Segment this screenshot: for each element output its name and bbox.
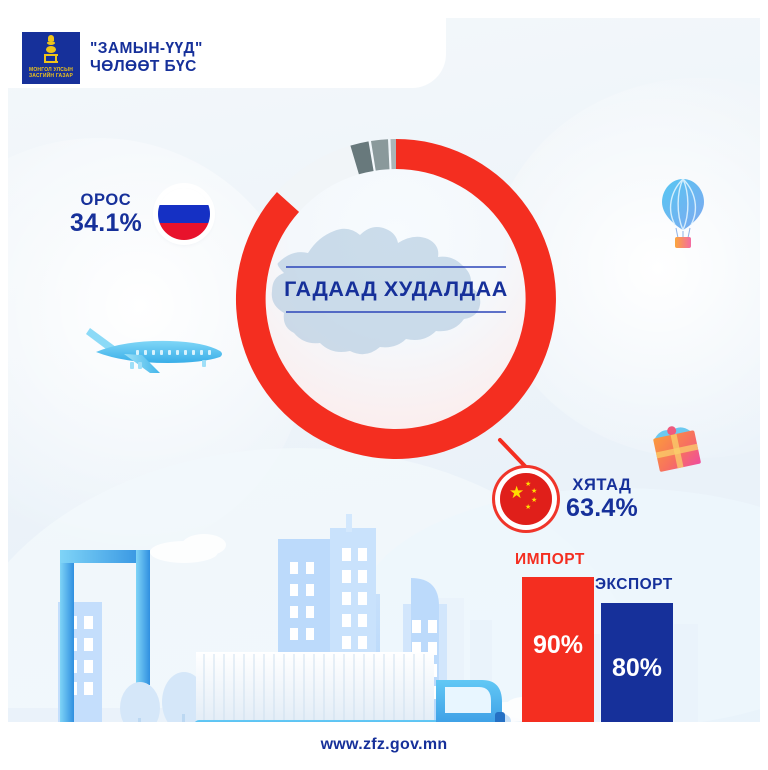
emblem-text: МОНГОЛ УЛСЫН ЗАСГИЙН ГАЗАР	[22, 67, 80, 79]
callout-russia[interactable]: ОРОС 34.1%	[70, 188, 210, 240]
callout-russia-percent: 34.1%	[70, 211, 142, 237]
infographic-poster: ГАДААД ХУДАЛДАА ОРОС 34.1% ★ ★ ★ ★ ★ ХЯТ…	[8, 18, 760, 762]
donut-center-label-group: ГАДААД ХУДАЛДАА	[220, 266, 572, 313]
website-url[interactable]: www.zfz.gov.mn	[8, 736, 760, 754]
callout-russia-name: ОРОС	[70, 192, 142, 209]
gift-box-icon	[649, 414, 705, 472]
import-bar-value: 90%	[522, 631, 594, 660]
mongolia-government-emblem-icon: МОНГОЛ УЛСЫН ЗАСГИЙН ГАЗАР	[22, 32, 80, 84]
donut-center-label: ГАДААД ХУДАЛДАА	[220, 277, 572, 302]
center-rule-bottom	[286, 311, 506, 313]
donut-segment-russia	[277, 146, 359, 212]
brand-title: "ЗАМЫН-ҮҮД" ЧӨЛӨӨТ БҮС	[90, 40, 203, 76]
callout-china-percent: 63.4%	[566, 496, 638, 522]
hot-air-balloon-icon	[660, 178, 706, 252]
center-rule-top	[286, 266, 506, 268]
soyombo-symbol-icon	[43, 35, 59, 65]
china-flag-icon: ★ ★ ★ ★ ★	[500, 473, 552, 525]
export-bar-value: 80%	[601, 654, 673, 683]
callout-russia-text: ОРОС 34.1%	[70, 192, 142, 236]
brand-lockup: МОНГОЛ УЛСЫН ЗАСГИЙН ГАЗАР "ЗАМЫН-ҮҮД" Ч…	[22, 32, 203, 84]
donut-segment-other-3	[391, 139, 397, 169]
export-bar-label: ЭКСПОРТ	[595, 576, 673, 594]
donut-segment-other-2	[371, 139, 390, 170]
callout-china-name: ХЯТАД	[566, 477, 638, 494]
airplane-icon	[80, 318, 230, 380]
callout-china-text: ХЯТАД 63.4%	[566, 477, 638, 521]
callout-china[interactable]: ★ ★ ★ ★ ★ ХЯТАД 63.4%	[500, 473, 638, 525]
import-bar-label: ИМПОРТ	[515, 551, 585, 569]
russia-flag-icon	[158, 188, 210, 240]
foreign-trade-donut-chart: ГАДААД ХУДАЛДАА	[220, 123, 572, 475]
